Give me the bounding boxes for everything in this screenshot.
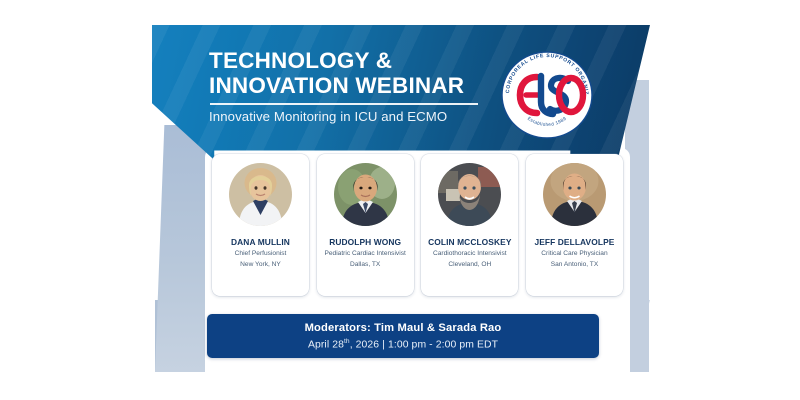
moderators-banner: Moderators: Tim Maul & Sarada Rao April … bbox=[207, 314, 599, 358]
title-line-2: INNOVATION WEBINAR bbox=[209, 73, 484, 98]
left-accent-panel bbox=[155, 125, 207, 372]
title-block: TECHNOLOGY & INNOVATION WEBINAR Innovati… bbox=[209, 48, 484, 125]
speaker-name: COLIN MCCLOSKEY bbox=[428, 237, 511, 247]
speaker-location: San Antonio, TX bbox=[551, 261, 599, 269]
speaker-photo-rudolph-wong bbox=[334, 163, 397, 226]
title-line-1: TECHNOLOGY & bbox=[209, 48, 484, 73]
elso-logo: EXTRACORPOREAL LIFE SUPPORT ORGANIZATION… bbox=[496, 44, 598, 146]
speaker-location: Dallas, TX bbox=[350, 261, 380, 269]
speaker-photo-colin-mccloskey bbox=[438, 163, 501, 226]
speaker-card[interactable]: RUDOLPH WONG Pediatric Cardiac Intensivi… bbox=[317, 154, 414, 296]
webinar-time: , 2026 | 1:00 pm - 2:00 pm EDT bbox=[350, 339, 498, 350]
speaker-photo-jeff-dellavolpe bbox=[543, 163, 606, 226]
speaker-location: Cleveland, OH bbox=[448, 261, 491, 269]
speaker-role: Pediatric Cardiac Intensivist bbox=[322, 250, 407, 258]
speaker-role: Chief Perfusionist bbox=[233, 250, 289, 258]
webinar-promo-graphic: TECHNOLOGY & INNOVATION WEBINAR Innovati… bbox=[0, 0, 800, 400]
speaker-name: DANA MULLIN bbox=[231, 237, 290, 247]
speaker-card-list: DANA MULLIN Chief Perfusionist New York,… bbox=[205, 148, 630, 300]
speaker-name: JEFF DELLAVOLPE bbox=[534, 237, 614, 247]
speaker-photo-dana-mullin bbox=[229, 163, 292, 226]
speaker-role: Cardiothoracic Intensivist bbox=[431, 250, 509, 258]
speaker-card[interactable]: DANA MULLIN Chief Perfusionist New York,… bbox=[212, 154, 309, 296]
speaker-location: New York, NY bbox=[240, 261, 281, 269]
speaker-name: RUDOLPH WONG bbox=[329, 237, 401, 247]
webinar-date: April 28 bbox=[308, 339, 344, 350]
speaker-role: Critical Care Physician bbox=[539, 250, 609, 258]
moderators-label: Moderators: Tim Maul & Sarada Rao bbox=[305, 322, 502, 334]
subtitle: Innovative Monitoring in ICU and ECMO bbox=[209, 109, 484, 125]
speaker-card[interactable]: COLIN MCCLOSKEY Cardiothoracic Intensivi… bbox=[421, 154, 518, 296]
title-underline bbox=[210, 103, 478, 105]
webinar-datetime: April 28th, 2026 | 1:00 pm - 2:00 pm EDT bbox=[308, 338, 498, 350]
speaker-card[interactable]: JEFF DELLAVOLPE Critical Care Physician … bbox=[526, 154, 623, 296]
